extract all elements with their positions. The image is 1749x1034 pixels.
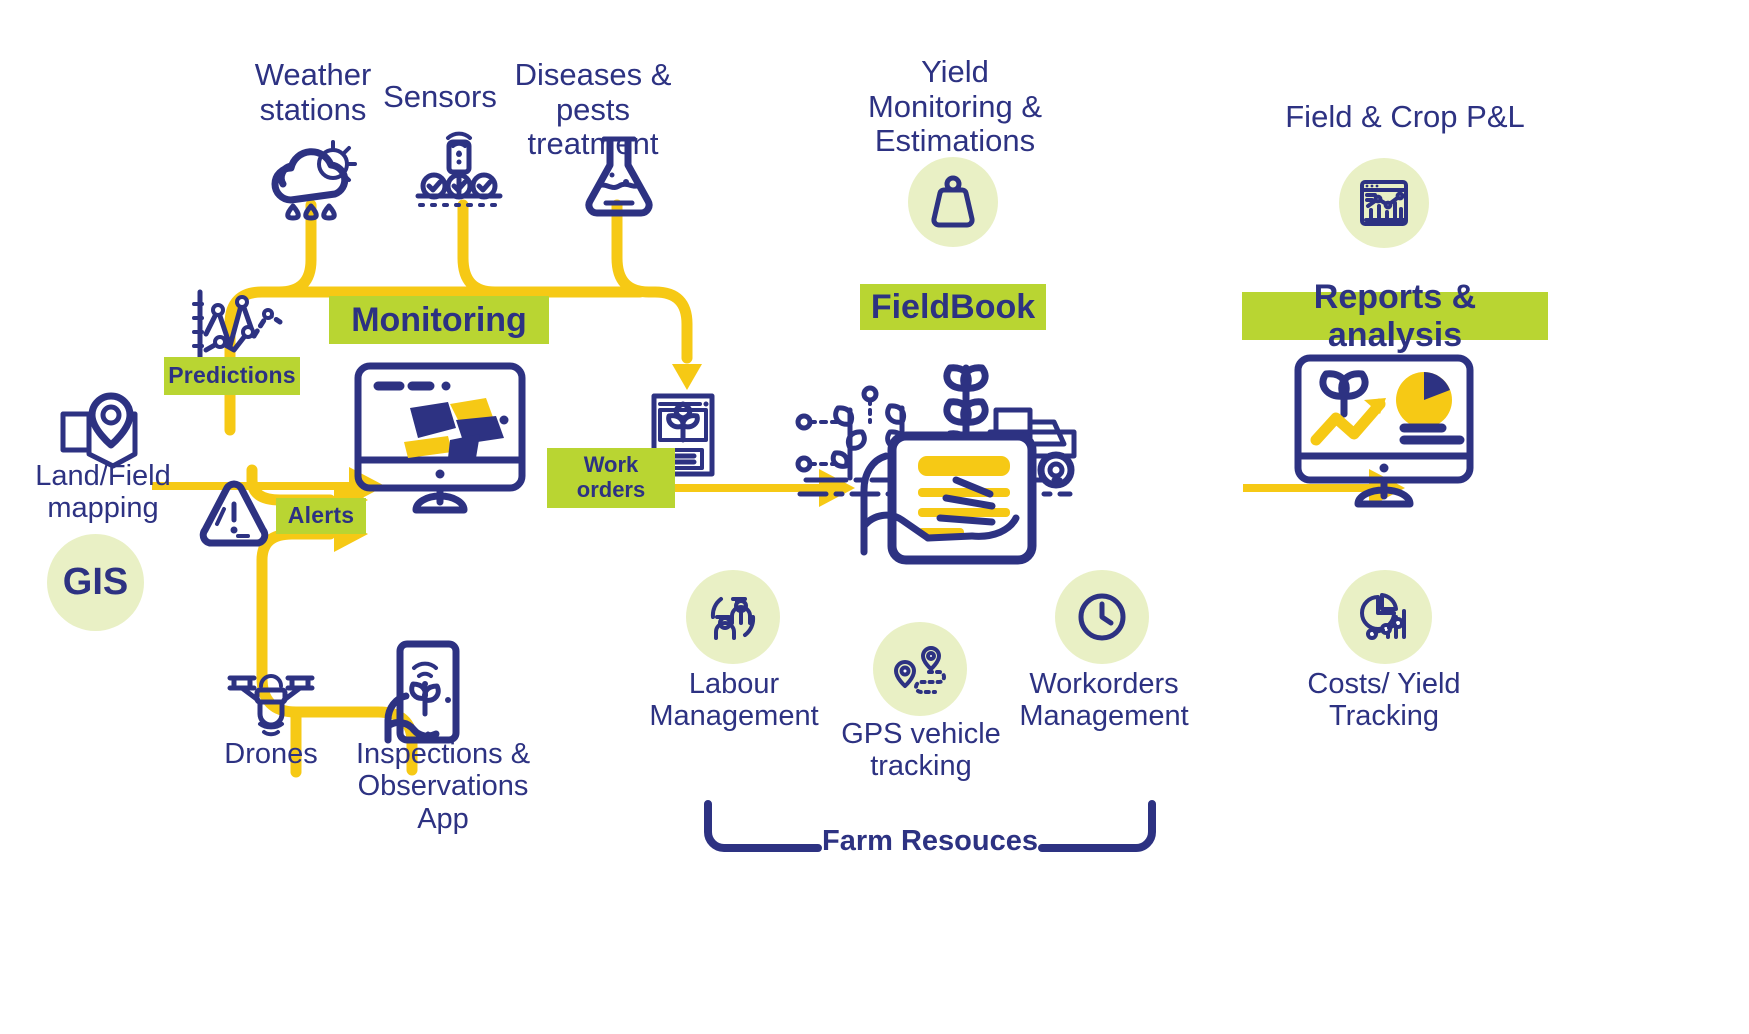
weight-scale-icon <box>928 176 978 228</box>
labour-management-label: Labour Management <box>648 668 820 733</box>
clock-icon <box>1077 592 1127 642</box>
pie-chart-network-icon <box>1358 593 1412 641</box>
workorders-management-label: Workorders Management <box>1016 668 1192 733</box>
diagram-canvas: Weather stations Sensors <box>0 0 1749 1034</box>
inspections-app-label: Inspections & Observations App <box>330 738 556 835</box>
report-chart-circle <box>1339 158 1429 248</box>
route-pins-icon <box>893 644 947 694</box>
labour-management-circle <box>686 570 780 664</box>
field-map-monitor-icon <box>352 360 528 516</box>
monitor-growth-piechart-icon <box>1292 352 1478 512</box>
costs-yield-label: Costs/ Yield Tracking <box>1296 668 1472 733</box>
predictions-badge[interactable]: Predictions <box>164 357 300 395</box>
work-orders-badge[interactable]: Work orders <box>547 448 675 508</box>
drone-icon <box>224 668 318 738</box>
monitoring-badge[interactable]: Monitoring <box>329 296 549 344</box>
flask-icon <box>580 135 658 217</box>
two-farmers-icon <box>707 593 759 641</box>
workorders-management-circle <box>1055 570 1149 664</box>
farm-resources-label: Farm Resouces <box>815 825 1045 858</box>
land-field-mapping-label: Land/Field mapping <box>18 460 188 525</box>
line-chart-icon <box>188 288 284 368</box>
yield-monitoring-label: Yield Monitoring & Estimations <box>795 55 1115 159</box>
cloud-rain-sun-icon <box>265 140 361 218</box>
reports-analysis-badge[interactable]: Reports & analysis <box>1242 292 1548 340</box>
weight-scale-circle <box>908 157 998 247</box>
gis-circle: GIS <box>47 534 144 631</box>
hand-tablet-crops-tractor-icon <box>790 352 1090 578</box>
hand-phone-leaf-icon <box>378 640 464 744</box>
weather-stations-label: Weather stations <box>233 58 393 127</box>
field-crop-pl-label: Field & Crop P&L <box>1270 100 1540 135</box>
fieldbook-badge[interactable]: FieldBook <box>860 284 1046 330</box>
gps-tracking-circle <box>873 622 967 716</box>
gis-label: GIS <box>63 561 128 604</box>
warning-triangle-icon <box>200 478 268 550</box>
gps-tracking-label: GPS vehicle tracking <box>833 718 1009 783</box>
drones-label: Drones <box>198 738 344 770</box>
report-bar-chart-icon <box>1359 179 1409 227</box>
costs-yield-circle <box>1338 570 1432 664</box>
